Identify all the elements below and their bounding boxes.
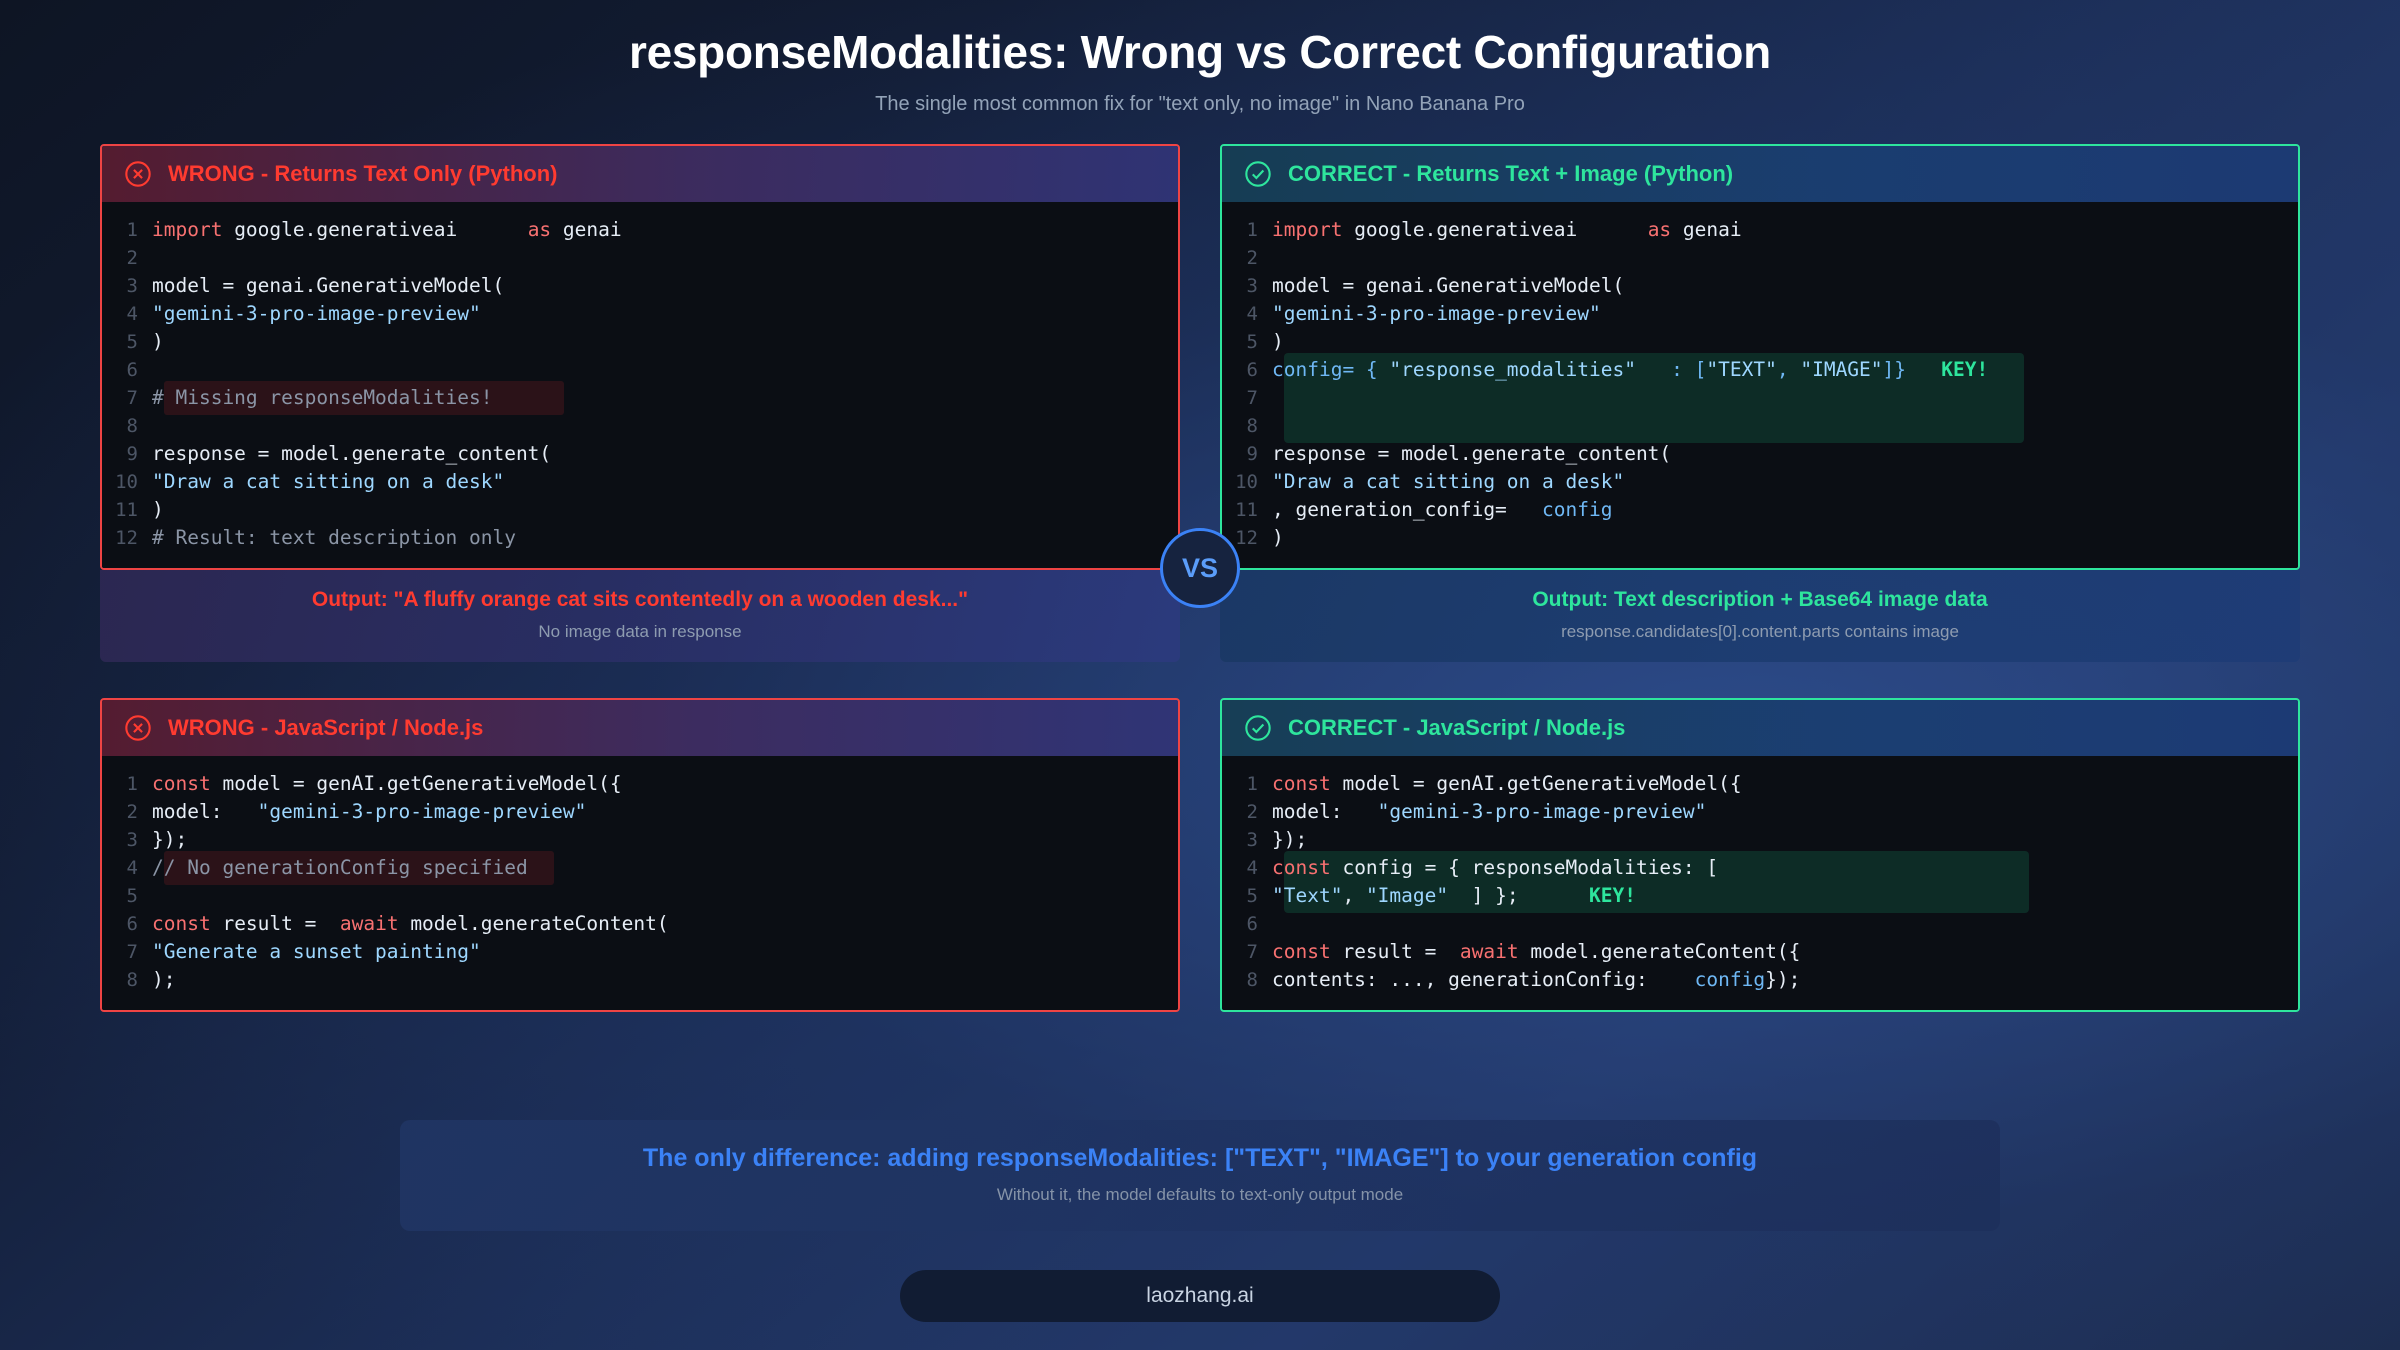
code-token: google.generativeai <box>1354 218 1648 241</box>
code-line: 10"Draw a cat sitting on a desk" <box>102 468 1178 496</box>
code-text: "Text", "Image" ] }; KEY! <box>1272 882 2280 910</box>
summary-banner: The only difference: adding responseModa… <box>400 1120 2000 1231</box>
code-token: await <box>340 912 410 935</box>
code-token: model: <box>1272 800 1378 823</box>
code-token: , generation_config= <box>1272 498 1542 521</box>
code-text: ) <box>152 496 1160 524</box>
code-text: import google.generativeai as genai <box>1272 216 2280 244</box>
code-line: 12# Result: text description only <box>102 524 1178 552</box>
line-number: 6 <box>102 356 152 384</box>
line-number: 4 <box>102 300 152 328</box>
line-number: 1 <box>1222 216 1272 244</box>
code-token: result = <box>1342 940 1459 963</box>
code-text: ) <box>1272 524 2280 552</box>
code-token: ) <box>1272 526 1284 549</box>
correct-js-column: CORRECT - JavaScript / Node.js 1const mo… <box>1220 698 2300 1012</box>
code-token: "gemini-3-pro-image-preview" <box>152 302 481 325</box>
code-token: config <box>1542 498 1612 521</box>
code-line: 4"gemini-3-pro-image-preview" <box>1222 300 2298 328</box>
code-line: 1import google.generativeai as genai <box>102 216 1178 244</box>
code-token: ) <box>1272 330 1284 353</box>
line-number: 11 <box>102 496 152 524</box>
footer-brand-pill[interactable]: laozhang.ai <box>900 1270 1500 1322</box>
line-number: 7 <box>1222 938 1272 966</box>
code-line: 2model: "gemini-3-pro-image-preview" <box>1222 798 2298 826</box>
code-token: result = <box>222 912 339 935</box>
code-token <box>1906 358 1941 381</box>
code-line: 5 <box>102 882 1178 910</box>
code-token: config = { responseModalities: [ <box>1342 856 1718 879</box>
code-token: config <box>1695 968 1765 991</box>
line-number: 1 <box>1222 770 1272 798</box>
wrong-python-output-sub: No image data in response <box>120 622 1160 642</box>
code-token: model = genai.GenerativeModel( <box>1272 274 1624 297</box>
line-number: 4 <box>1222 300 1272 328</box>
code-line: 2 <box>102 244 1178 272</box>
wrong-js-panel: WRONG - JavaScript / Node.js 1const mode… <box>100 698 1180 1012</box>
code-text: const result = await model.generateConte… <box>152 910 1160 938</box>
code-token: }); <box>152 828 187 851</box>
code-line: 8); <box>102 966 1178 994</box>
line-number: 8 <box>102 966 152 994</box>
code-token: }); <box>1765 968 1800 991</box>
page-title: responseModalities: Wrong vs Correct Con… <box>0 26 2400 79</box>
code-line: 1import google.generativeai as genai <box>1222 216 2298 244</box>
code-token: ]} <box>1883 358 1906 381</box>
code-text: contents: ..., generationConfig: config}… <box>1272 966 2280 994</box>
code-text: }); <box>1272 826 2280 854</box>
code-token: # Result: text description only <box>152 526 516 549</box>
line-number: 2 <box>1222 798 1272 826</box>
line-number: 1 <box>102 770 152 798</box>
check-circle-icon <box>1244 160 1272 188</box>
wrong-js-code[interactable]: 1const model = genAI.getGenerativeModel(… <box>102 756 1178 1010</box>
code-text: "gemini-3-pro-image-preview" <box>152 300 1160 328</box>
code-token: const <box>1272 940 1342 963</box>
code-line: 6config= { "response_modalities" : ["TEX… <box>1222 356 2298 384</box>
code-line: 9response = model.generate_content( <box>102 440 1178 468</box>
code-text: , generation_config= config <box>1272 496 2280 524</box>
code-text: ) <box>1272 328 2280 356</box>
footer-brand-label: laozhang.ai <box>1146 1284 1253 1308</box>
code-line: 8 <box>1222 412 2298 440</box>
line-number: 7 <box>102 384 152 412</box>
code-line: 7# Missing responseModalities! <box>102 384 1178 412</box>
line-number: 7 <box>102 938 152 966</box>
correct-python-column: CORRECT - Returns Text + Image (Python) … <box>1220 144 2300 662</box>
line-number: 4 <box>102 854 152 882</box>
code-text: // No generationConfig specified <box>152 854 1160 882</box>
code-token: "response_modalities" <box>1389 358 1636 381</box>
code-text: "Generate a sunset painting" <box>152 938 1160 966</box>
code-line: 3model = genai.GenerativeModel( <box>1222 272 2298 300</box>
code-token: "Text" <box>1272 884 1342 907</box>
code-token: model = genai.GenerativeModel( <box>152 274 504 297</box>
code-text: "Draw a cat sitting on a desk" <box>1272 468 2280 496</box>
line-number: 3 <box>102 826 152 854</box>
code-token: as <box>1648 218 1683 241</box>
correct-python-output-sub: response.candidates[0].content.parts con… <box>1240 622 2280 642</box>
line-number: 6 <box>102 910 152 938</box>
correct-js-code[interactable]: 1const model = genAI.getGenerativeModel(… <box>1222 756 2298 1010</box>
vs-badge: VS <box>1160 528 1240 608</box>
code-line: 5"Text", "Image" ] }; KEY! <box>1222 882 2298 910</box>
summary-sub-text: Without it, the model defaults to text-o… <box>420 1185 1980 1205</box>
page-subtitle: The single most common fix for "text onl… <box>0 93 2400 116</box>
code-text: }); <box>152 826 1160 854</box>
wrong-python-title: WRONG - Returns Text Only (Python) <box>168 161 557 187</box>
code-token: ) <box>152 498 164 521</box>
code-token: : [ <box>1636 358 1706 381</box>
code-token: model = genAI.getGenerativeModel({ <box>222 772 621 795</box>
line-number: 9 <box>1222 440 1272 468</box>
code-text: "Draw a cat sitting on a desk" <box>152 468 1160 496</box>
code-line: 3}); <box>102 826 1178 854</box>
code-text: const model = genAI.getGenerativeModel({ <box>152 770 1160 798</box>
code-token: model = genAI.getGenerativeModel({ <box>1342 772 1741 795</box>
code-token: "Draw a cat sitting on a desk" <box>152 470 504 493</box>
code-line: 11) <box>102 496 1178 524</box>
line-number: 3 <box>102 272 152 300</box>
code-line: 9response = model.generate_content( <box>1222 440 2298 468</box>
code-token: "gemini-3-pro-image-preview" <box>258 800 587 823</box>
code-token: as <box>528 218 563 241</box>
code-line: 1const model = genAI.getGenerativeModel(… <box>102 770 1178 798</box>
code-text: response = model.generate_content( <box>152 440 1160 468</box>
code-token: // No generationConfig specified <box>152 856 528 879</box>
line-number: 5 <box>102 328 152 356</box>
code-line: 4// No generationConfig specified <box>102 854 1178 882</box>
line-number: 6 <box>1222 910 1272 938</box>
code-token: # Missing responseModalities! <box>152 386 492 409</box>
code-line: 6 <box>1222 910 2298 938</box>
correct-js-panel: CORRECT - JavaScript / Node.js 1const mo… <box>1220 698 2300 1012</box>
line-number: 9 <box>102 440 152 468</box>
header: responseModalities: Wrong vs Correct Con… <box>0 0 2400 116</box>
line-number: 10 <box>1222 468 1272 496</box>
code-line: 2 <box>1222 244 2298 272</box>
code-line: 5) <box>102 328 1178 356</box>
line-number: 8 <box>1222 412 1272 440</box>
code-token: import <box>1272 218 1354 241</box>
code-line: 7"Generate a sunset painting" <box>102 938 1178 966</box>
code-line: 6const result = await model.generateCont… <box>102 910 1178 938</box>
code-token: "Draw a cat sitting on a desk" <box>1272 470 1624 493</box>
code-token: , <box>1342 884 1365 907</box>
code-line: 7const result = await model.generateCont… <box>1222 938 2298 966</box>
correct-python-output-main: Output: Text description + Base64 image … <box>1240 588 2280 612</box>
code-line: 4"gemini-3-pro-image-preview" <box>102 300 1178 328</box>
page-root: responseModalities: Wrong vs Correct Con… <box>0 0 2400 1350</box>
code-token: genai <box>1683 218 1742 241</box>
line-number: 4 <box>1222 854 1272 882</box>
wrong-python-column: WRONG - Returns Text Only (Python) 1impo… <box>100 144 1180 662</box>
code-token: KEY! <box>1941 358 1988 381</box>
correct-python-code[interactable]: 1import google.generativeai as genai23mo… <box>1222 202 2298 568</box>
code-token: import <box>152 218 234 241</box>
code-token: "Image" <box>1366 884 1448 907</box>
line-number: 7 <box>1222 384 1272 412</box>
line-number: 2 <box>102 798 152 826</box>
code-text: model = genai.GenerativeModel( <box>1272 272 2280 300</box>
line-number: 1 <box>102 216 152 244</box>
line-number: 5 <box>1222 328 1272 356</box>
line-number: 2 <box>1222 244 1272 272</box>
line-number: 8 <box>102 412 152 440</box>
correct-js-header: CORRECT - JavaScript / Node.js <box>1222 700 2298 756</box>
code-text: "gemini-3-pro-image-preview" <box>1272 300 2280 328</box>
correct-python-panel: CORRECT - Returns Text + Image (Python) … <box>1220 144 2300 570</box>
code-token: contents: ..., generationConfig: <box>1272 968 1695 991</box>
code-text: const model = genAI.getGenerativeModel({ <box>1272 770 2280 798</box>
code-line: 4const config = { responseModalities: [ <box>1222 854 2298 882</box>
correct-python-output: Output: Text description + Base64 image … <box>1220 570 2300 662</box>
code-token: "Generate a sunset painting" <box>152 940 481 963</box>
code-line: 2model: "gemini-3-pro-image-preview" <box>102 798 1178 826</box>
code-text: model = genai.GenerativeModel( <box>152 272 1160 300</box>
code-text: model: "gemini-3-pro-image-preview" <box>1272 798 2280 826</box>
code-token: KEY! <box>1589 884 1636 907</box>
code-text: import google.generativeai as genai <box>152 216 1160 244</box>
wrong-js-column: WRONG - JavaScript / Node.js 1const mode… <box>100 698 1180 1012</box>
line-number: 11 <box>1222 496 1272 524</box>
code-text: response = model.generate_content( <box>1272 440 2280 468</box>
correct-python-header: CORRECT - Returns Text + Image (Python) <box>1222 146 2298 202</box>
comparison-grid: WRONG - Returns Text Only (Python) 1impo… <box>100 144 2300 1012</box>
code-token: "gemini-3-pro-image-preview" <box>1272 302 1601 325</box>
line-number: 5 <box>102 882 152 910</box>
code-token: ); <box>152 968 175 991</box>
code-text: const config = { responseModalities: [ <box>1272 854 2280 882</box>
x-circle-icon <box>124 714 152 742</box>
code-text: ); <box>152 966 1160 994</box>
line-number: 8 <box>1222 966 1272 994</box>
code-token: const <box>1272 772 1342 795</box>
code-line: 7 <box>1222 384 2298 412</box>
wrong-js-title: WRONG - JavaScript / Node.js <box>168 715 483 741</box>
code-text: # Result: text description only <box>152 524 1160 552</box>
wrong-python-output: Output: "A fluffy orange cat sits conten… <box>100 570 1180 662</box>
line-number: 10 <box>102 468 152 496</box>
code-text: config= { "response_modalities" : ["TEXT… <box>1272 356 2280 384</box>
code-token: genai <box>563 218 622 241</box>
check-circle-icon <box>1244 714 1272 742</box>
wrong-python-header: WRONG - Returns Text Only (Python) <box>102 146 1178 202</box>
code-token: google.generativeai <box>234 218 528 241</box>
code-text: ) <box>152 328 1160 356</box>
code-token: response = model.generate_content( <box>152 442 551 465</box>
code-token: "IMAGE" <box>1800 358 1882 381</box>
x-circle-icon <box>124 160 152 188</box>
wrong-python-code[interactable]: 1import google.generativeai as genai23mo… <box>102 202 1178 568</box>
code-token: const <box>152 772 222 795</box>
code-line: 10"Draw a cat sitting on a desk" <box>1222 468 2298 496</box>
code-token: response = model.generate_content( <box>1272 442 1671 465</box>
code-text: model: "gemini-3-pro-image-preview" <box>152 798 1160 826</box>
code-token: model.generateContent({ <box>1530 940 1800 963</box>
code-line: 8 <box>102 412 1178 440</box>
line-number: 5 <box>1222 882 1272 910</box>
code-token: config= { <box>1272 358 1389 381</box>
code-token: "TEXT" <box>1706 358 1776 381</box>
correct-js-title: CORRECT - JavaScript / Node.js <box>1288 715 1625 741</box>
code-token: model: <box>152 800 258 823</box>
code-token <box>1519 884 1589 907</box>
wrong-js-header: WRONG - JavaScript / Node.js <box>102 700 1178 756</box>
code-token: ) <box>152 330 164 353</box>
code-line: 6 <box>102 356 1178 384</box>
code-token: model.generateContent( <box>410 912 668 935</box>
code-text: # Missing responseModalities! <box>152 384 1160 412</box>
code-token: ] }; <box>1448 884 1518 907</box>
line-number: 2 <box>102 244 152 272</box>
line-number: 12 <box>102 524 152 552</box>
correct-python-title: CORRECT - Returns Text + Image (Python) <box>1288 161 1733 187</box>
code-token: "gemini-3-pro-image-preview" <box>1378 800 1707 823</box>
code-line: 5) <box>1222 328 2298 356</box>
code-token: }); <box>1272 828 1307 851</box>
code-line: 1const model = genAI.getGenerativeModel(… <box>1222 770 2298 798</box>
line-number: 3 <box>1222 272 1272 300</box>
wrong-python-output-main: Output: "A fluffy orange cat sits conten… <box>120 588 1160 612</box>
code-token: await <box>1460 940 1530 963</box>
code-line: 11, generation_config= config <box>1222 496 2298 524</box>
line-number: 3 <box>1222 826 1272 854</box>
code-line: 12) <box>1222 524 2298 552</box>
code-token: const <box>152 912 222 935</box>
wrong-python-panel: WRONG - Returns Text Only (Python) 1impo… <box>100 144 1180 570</box>
code-token: , <box>1777 358 1800 381</box>
code-token: const <box>1272 856 1342 879</box>
code-line: 8contents: ..., generationConfig: config… <box>1222 966 2298 994</box>
code-line: 3model = genai.GenerativeModel( <box>102 272 1178 300</box>
code-text: const result = await model.generateConte… <box>1272 938 2280 966</box>
code-line: 3}); <box>1222 826 2298 854</box>
summary-main-text: The only difference: adding responseModa… <box>420 1144 1980 1173</box>
javascript-row: WRONG - JavaScript / Node.js 1const mode… <box>100 698 2300 1012</box>
line-number: 6 <box>1222 356 1272 384</box>
